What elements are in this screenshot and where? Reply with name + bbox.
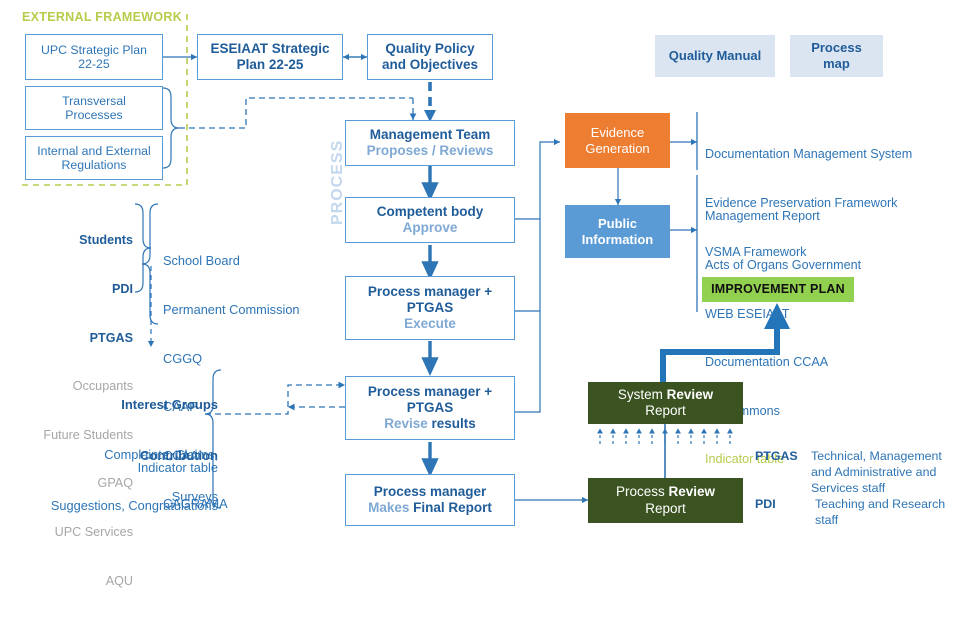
step-process-manager-revise[interactable]: Process manager + PTGAS Revise results bbox=[345, 376, 515, 440]
box-process-review-report[interactable]: Process Review Report bbox=[588, 478, 743, 523]
step-process-manager-execute[interactable]: Process manager + PTGAS Execute bbox=[345, 276, 515, 340]
stakeholder-item: PTGAS bbox=[0, 330, 133, 346]
step-action: Makes Final Report bbox=[346, 500, 514, 516]
step-action-pre: Makes bbox=[368, 500, 409, 515]
external-framework-heading: EXTERNAL FRAMEWORK bbox=[22, 10, 182, 24]
interest-groups-surveys: Surveys bbox=[0, 489, 218, 505]
box-line-2: Generation bbox=[585, 141, 649, 157]
list-item: Documentation CCAA bbox=[705, 354, 861, 370]
legend-value: Technical, Management and Administrative… bbox=[811, 448, 942, 497]
step-management-team[interactable]: Management Team Proposes / Reviews bbox=[345, 120, 515, 166]
interest-groups-items: Complaints, Claims, Suggestions, Congrat… bbox=[0, 412, 218, 548]
step-actor: Process manager + bbox=[346, 384, 514, 400]
box-upc-strategic-plan[interactable]: UPC Strategic Plan 22-25 bbox=[25, 34, 163, 80]
box-line-2: Plan 22-25 bbox=[198, 57, 342, 73]
interest-groups-indicator-table: Indicator table bbox=[0, 460, 218, 476]
step-actor: Process manager + bbox=[346, 284, 514, 300]
box-line-1: System Review bbox=[618, 387, 713, 403]
report-emphasis: Review bbox=[669, 484, 716, 499]
box-transversal-processes[interactable]: Transversal Processes bbox=[25, 86, 163, 130]
box-line-2: Information bbox=[582, 232, 654, 248]
legend-key: PDI bbox=[755, 496, 805, 528]
step-process-manager-final-report[interactable]: Process manager Makes Final Report bbox=[345, 474, 515, 526]
box-internal-external-regulations[interactable]: Internal and External Regulations bbox=[25, 136, 163, 180]
step-action: Proposes / Reviews bbox=[346, 143, 514, 159]
list-item: Management Report bbox=[705, 208, 861, 224]
title-line-1: Interest Groups bbox=[0, 396, 218, 413]
step-action-post: results bbox=[428, 416, 476, 431]
chip-quality-manual[interactable]: Quality Manual bbox=[655, 35, 775, 77]
chip-label-line-1: Process bbox=[811, 40, 862, 56]
report-emphasis: Review bbox=[667, 387, 714, 402]
step-actor: Process manager bbox=[346, 484, 514, 500]
list-item: Documentation Management System bbox=[705, 146, 912, 162]
box-quality-policy-objectives[interactable]: Quality Policy and Objectives bbox=[367, 34, 493, 80]
box-evidence-generation[interactable]: Evidence Generation bbox=[565, 113, 670, 168]
box-line-1: Quality Policy bbox=[368, 41, 492, 57]
stakeholder-item: AQU bbox=[0, 573, 133, 589]
box-line-1: Internal and External bbox=[26, 144, 162, 159]
box-line-1: Process Review bbox=[616, 484, 715, 500]
box-eseiaat-strategic-plan[interactable]: ESEIAAT Strategic Plan 22-25 bbox=[197, 34, 343, 80]
box-line-2: Processes bbox=[26, 108, 162, 123]
box-line-1: Transversal bbox=[26, 94, 162, 109]
step-action-post: Final Report bbox=[409, 500, 492, 515]
chip-process-map[interactable]: Process map bbox=[790, 35, 883, 77]
step-competent-body[interactable]: Competent body Approve bbox=[345, 197, 515, 243]
box-line-2: 22-25 bbox=[26, 57, 162, 72]
report-scope: System bbox=[618, 387, 667, 402]
box-label: IMPROVEMENT PLAN bbox=[711, 282, 845, 297]
box-line-2: Report bbox=[645, 403, 686, 419]
box-system-review-report[interactable]: System Review Report bbox=[588, 382, 743, 424]
chip-label: Quality Manual bbox=[669, 48, 761, 64]
legend-value: Teaching and Research staff bbox=[815, 496, 945, 528]
report-scope: Process bbox=[616, 484, 669, 499]
step-action: Execute bbox=[346, 316, 514, 332]
box-line-1: Public bbox=[598, 216, 637, 232]
box-line-2: Report bbox=[645, 501, 686, 517]
diagram-canvas: EXTERNAL FRAMEWORK PROCESS UPC Strategic… bbox=[0, 0, 960, 540]
step-actor-2: PTGAS bbox=[346, 300, 514, 316]
box-improvement-plan[interactable]: IMPROVEMENT PLAN bbox=[702, 277, 854, 302]
legend-line: Technical, Management bbox=[811, 449, 942, 463]
body-item: Permanent Commission bbox=[163, 302, 300, 318]
box-public-information[interactable]: Public Information bbox=[565, 205, 670, 258]
step-actor: Management Team bbox=[346, 127, 514, 143]
chip-label-line-2: map bbox=[823, 56, 850, 72]
step-actor-2: PTGAS bbox=[346, 400, 514, 416]
box-line-2: and Objectives bbox=[368, 57, 492, 73]
legend-pdi: PDI Teaching and Research staff bbox=[755, 496, 945, 528]
list-item: Acts of Organs Government bbox=[705, 257, 861, 273]
step-action: Approve bbox=[346, 220, 514, 236]
legend-line: Teaching and Research bbox=[815, 497, 945, 511]
box-line-2: Regulations bbox=[26, 158, 162, 173]
box-line-1: UPC Strategic Plan bbox=[26, 43, 162, 58]
legend-line: Services staff bbox=[811, 481, 885, 495]
box-line-1: ESEIAAT Strategic bbox=[198, 41, 342, 57]
step-action-pre: Revise bbox=[384, 416, 428, 431]
stakeholder-item: PDI bbox=[0, 281, 133, 297]
legend-key: PTGAS bbox=[755, 448, 805, 497]
step-actor: Competent body bbox=[346, 204, 514, 220]
step-action: Revise results bbox=[346, 416, 514, 432]
list-item: WEB ESEIAAT bbox=[705, 306, 861, 322]
legend-ptgas: PTGAS Technical, Management and Administ… bbox=[755, 448, 942, 497]
stakeholder-item: Students bbox=[0, 232, 133, 248]
legend-line: and Administrative and bbox=[811, 465, 936, 479]
box-line-1: Evidence bbox=[591, 125, 644, 141]
body-item: School Board bbox=[163, 253, 300, 269]
legend-line: staff bbox=[815, 513, 838, 527]
